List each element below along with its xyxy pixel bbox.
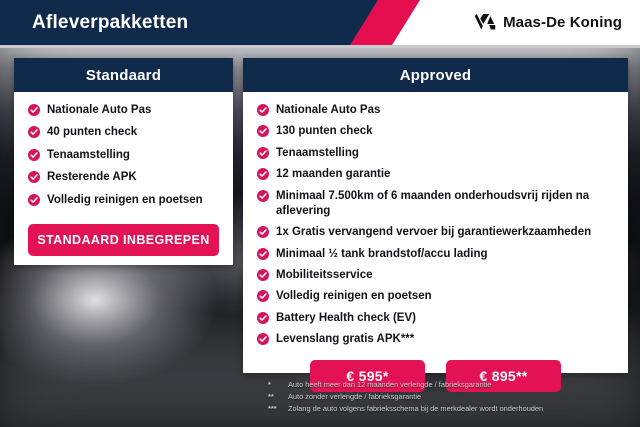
- feature-label: Nationale Auto Pas: [276, 103, 380, 118]
- check-circle-icon: [28, 171, 40, 183]
- feature-item: Minimaal ½ tank brandstof/accu lading: [243, 247, 628, 262]
- feature-label: Battery Health check (EV): [276, 311, 416, 326]
- feature-item: Levenslang gratis APK***: [243, 332, 628, 347]
- feature-label: Resterende APK: [47, 170, 137, 185]
- check-circle-icon: [257, 190, 269, 202]
- check-circle-icon: [257, 248, 269, 260]
- footnote-row: ** Auto zonder verlengde / fabrieksgaran…: [268, 391, 628, 403]
- check-circle-icon: [257, 269, 269, 281]
- feature-item: Volledig reinigen en poetsen: [14, 193, 233, 208]
- footnote-text: Zolang de auto volgens fabrieksschema bi…: [288, 403, 543, 415]
- feature-label: Volledig reinigen en poetsen: [276, 289, 432, 304]
- card-title-approved: Approved: [400, 67, 472, 84]
- feature-list-approved: Nationale Auto Pas 130 punten check Tena…: [243, 103, 628, 347]
- feature-label: Mobiliteitsservice: [276, 268, 373, 283]
- feature-label: 12 maanden garantie: [276, 167, 390, 182]
- feature-label: Levenslang gratis APK***: [276, 332, 414, 347]
- feature-label: Minimaal ½ tank brandstof/accu lading: [276, 247, 488, 262]
- feature-item: Resterende APK: [14, 170, 233, 185]
- footnote-row: * Auto heeft meer dan 12 maanden verleng…: [268, 379, 628, 391]
- brand-logo: Maas-De Koning: [470, 0, 622, 45]
- feature-item: Nationale Auto Pas: [243, 103, 628, 118]
- page-title: Afleverpakketten: [32, 0, 188, 45]
- feature-label: 130 punten check: [276, 124, 373, 139]
- feature-label: Tenaamstelling: [47, 148, 130, 163]
- feature-label: 40 punten check: [47, 125, 137, 140]
- feature-item: Volledig reinigen en poetsen: [243, 289, 628, 304]
- footnote-mark: **: [268, 391, 288, 403]
- check-circle-icon: [257, 168, 269, 180]
- check-circle-icon: [28, 194, 40, 206]
- card-body-approved: Nationale Auto Pas 130 punten check Tena…: [243, 92, 628, 392]
- check-circle-icon: [257, 290, 269, 302]
- feature-label: Minimaal 7.500km of 6 maanden onderhouds…: [276, 189, 628, 219]
- feature-label: Volledig reinigen en poetsen: [47, 193, 203, 208]
- check-circle-icon: [257, 125, 269, 137]
- check-circle-icon: [257, 104, 269, 116]
- footnote-text: Auto zonder verlengde / fabrieksgarantie: [288, 391, 421, 403]
- page-header: Afleverpakketten Maas-De Koning: [0, 0, 640, 45]
- check-circle-icon: [257, 333, 269, 345]
- header-underline: [0, 45, 640, 48]
- card-body-standaard: Nationale Auto Pas 40 punten check Tenaa…: [14, 92, 233, 256]
- card-header-approved: Approved: [243, 58, 628, 92]
- check-circle-icon: [257, 312, 269, 324]
- feature-label: 1x Gratis vervangend vervoer bij garanti…: [276, 225, 591, 240]
- feature-label: Nationale Auto Pas: [47, 103, 151, 118]
- feature-item: 40 punten check: [14, 125, 233, 140]
- feature-item: Tenaamstelling: [14, 148, 233, 163]
- check-circle-icon: [28, 149, 40, 161]
- check-circle-icon: [257, 226, 269, 238]
- card-title-standaard: Standaard: [86, 67, 161, 84]
- standaard-button-wrap: STANDAARD INBEGREPEN: [14, 215, 233, 256]
- check-circle-icon: [28, 104, 40, 116]
- brand-name: Maas-De Koning: [503, 14, 622, 31]
- card-header-standaard: Standaard: [14, 58, 233, 92]
- package-card-standaard: Standaard Nationale Auto Pas 40 punten c: [14, 58, 233, 265]
- feature-item: Nationale Auto Pas: [14, 103, 233, 118]
- footnotes: * Auto heeft meer dan 12 maanden verleng…: [268, 379, 628, 415]
- check-circle-icon: [257, 147, 269, 159]
- footnote-row: *** Zolang de auto volgens fabrieksschem…: [268, 403, 628, 415]
- delivery-packages-slide: Afleverpakketten Maas-De Koning Standaar…: [0, 0, 640, 427]
- feature-item: Battery Health check (EV): [243, 311, 628, 326]
- feature-item: Mobiliteitsservice: [243, 268, 628, 283]
- check-circle-icon: [28, 126, 40, 138]
- maas-de-koning-m-logo-icon: [470, 13, 496, 32]
- feature-item: 130 punten check: [243, 124, 628, 139]
- feature-item: Minimaal 7.500km of 6 maanden onderhouds…: [243, 189, 628, 219]
- feature-item: 12 maanden garantie: [243, 167, 628, 182]
- package-card-approved: Approved Nationale Auto Pas 130 punten c: [243, 58, 628, 373]
- standaard-included-button[interactable]: STANDAARD INBEGREPEN: [28, 224, 219, 256]
- footnote-mark: *: [268, 379, 288, 391]
- feature-list-standaard: Nationale Auto Pas 40 punten check Tenaa…: [14, 103, 233, 208]
- feature-item: Tenaamstelling: [243, 146, 628, 161]
- footnote-mark: ***: [268, 403, 288, 415]
- feature-item: 1x Gratis vervangend vervoer bij garanti…: [243, 225, 628, 240]
- footnote-text: Auto heeft meer dan 12 maanden verlengde…: [288, 379, 491, 391]
- feature-label: Tenaamstelling: [276, 146, 359, 161]
